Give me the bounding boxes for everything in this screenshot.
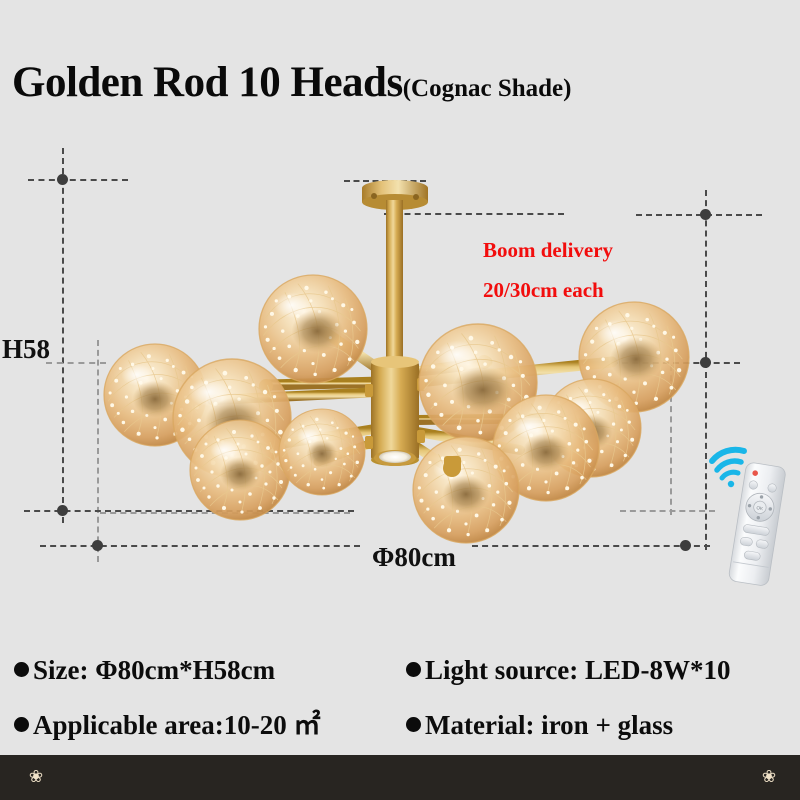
glass-globe <box>259 275 367 383</box>
remote-control[interactable]: OK <box>700 437 800 587</box>
spec-item-light-source: Light source: LED-8W*10 <box>406 655 731 686</box>
dimension-label-height: H58 <box>2 334 50 365</box>
glass-globe <box>543 379 641 477</box>
spec-item-material: Material: iron + glass <box>406 710 673 741</box>
spec-label: Applicable area:10-20 ㎡ <box>33 703 320 742</box>
glass-globe <box>493 395 599 501</box>
remote-body <box>728 462 786 587</box>
ornament-icon-right: ❀ <box>760 768 778 786</box>
glass-globe <box>413 437 519 543</box>
specification-list: Size: Φ80cm*H58cm Light source: LED-8W*1… <box>14 655 789 751</box>
bullet-icon <box>406 662 421 677</box>
product-image-canvas: Golden Rod 10 Heads(Cognac Shade) H58 Φ8… <box>0 0 800 800</box>
ceiling-canopy <box>362 180 428 210</box>
dimension-line-top <box>28 179 128 181</box>
spec-row: Applicable area:10-20 ㎡ Material: iron +… <box>14 703 789 751</box>
dimension-line-top-right <box>636 214 762 216</box>
ornament-icon-left: ❀ <box>27 768 45 786</box>
spec-label: Light source: LED-8W*10 <box>425 655 731 686</box>
dimension-marker-top-right <box>700 209 711 220</box>
spec-row: Size: Φ80cm*H58cm Light source: LED-8W*1… <box>14 655 789 703</box>
dimension-line-bottom-main-right <box>472 545 710 547</box>
title-sub-text: (Cognac Shade) <box>403 75 572 102</box>
wifi-signal-icon <box>712 450 744 487</box>
glass-globe <box>279 409 365 495</box>
dimension-marker-bottom-left <box>92 540 103 551</box>
dimension-line-canopy-top <box>344 180 426 182</box>
promo-note-line-1: Boom delivery <box>483 230 613 270</box>
center-hub <box>365 356 425 466</box>
globe-socket-front <box>443 456 461 477</box>
spec-label: Material: iron + glass <box>425 710 673 741</box>
dimension-line-bottom-main <box>40 545 360 547</box>
dimension-marker-mid-left <box>57 505 68 516</box>
promo-note-line-2: 20/30cm each <box>483 270 613 310</box>
spec-item-size: Size: Φ80cm*H58cm <box>14 655 406 686</box>
glass-globe <box>579 302 689 412</box>
dimension-label-width: Φ80cm <box>372 542 456 573</box>
bullet-icon <box>14 662 29 677</box>
promo-note: Boom delivery 20/30cm each <box>483 230 613 310</box>
dimension-line-right-inner <box>670 365 672 515</box>
dimension-line-mid-left <box>46 362 106 364</box>
bullet-icon <box>14 717 29 732</box>
page-title: Golden Rod 10 Heads(Cognac Shade) <box>12 58 571 107</box>
drop-rod <box>386 200 403 365</box>
globe-sockets <box>259 321 577 478</box>
dimension-marker-mid-right <box>700 357 711 368</box>
title-main-text: Golden Rod 10 Heads <box>12 59 403 106</box>
center-downlight <box>374 450 416 466</box>
spec-label: Size: Φ80cm*H58cm <box>33 655 275 686</box>
spec-item-applicable-area: Applicable area:10-20 ㎡ <box>14 703 406 742</box>
glass-globe <box>190 420 290 520</box>
dimension-line-left-inner <box>97 340 99 562</box>
dimension-line-shade-bottom <box>100 512 350 514</box>
dimension-line-canopy-bottom <box>384 213 564 215</box>
bullet-icon <box>406 717 421 732</box>
footer-bar: ❀ ❀ <box>0 755 800 800</box>
dimension-marker-top-left <box>57 174 68 185</box>
glass-globe <box>173 359 291 477</box>
dimension-line-mid-right <box>612 362 740 364</box>
glass-globe <box>419 324 537 442</box>
chandelier-arms <box>212 330 612 470</box>
glass-globe <box>104 344 206 446</box>
dimension-marker-bottom-right <box>680 540 691 551</box>
dimension-line-left-outer <box>62 148 64 523</box>
